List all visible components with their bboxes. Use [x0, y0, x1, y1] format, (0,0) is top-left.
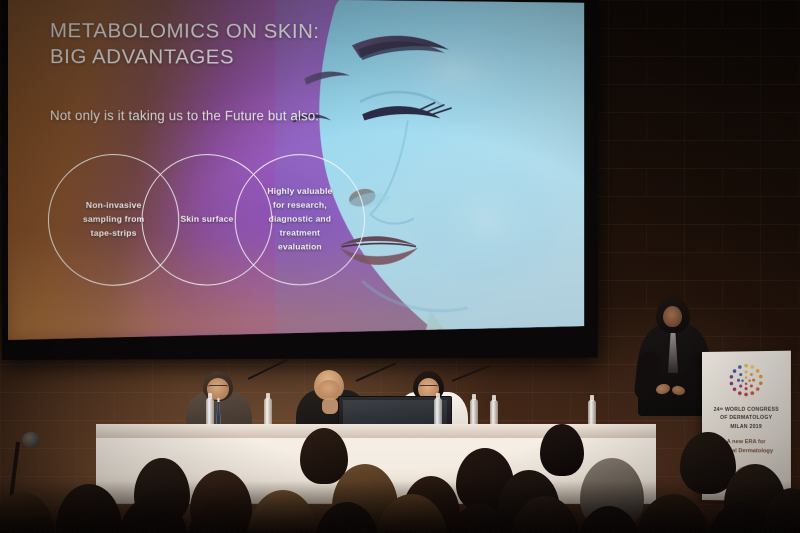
audience-silhouettes	[0, 418, 800, 533]
audience-head	[248, 490, 318, 533]
slide-subtitle: Not only is it taking us to the Future b…	[50, 108, 319, 123]
panelist-left-glasses-icon	[208, 385, 228, 390]
panelist-center-face	[318, 380, 340, 398]
venn-label-3: Highly valuable for research, diagnostic…	[235, 154, 365, 285]
venn-diagram: Non-invasive sampling from tape-strips S…	[32, 154, 428, 289]
audience-head	[56, 484, 122, 533]
projection-screen-frame: METABOLOMICS ON SKIN: BIG ADVANTAGES Not…	[2, 0, 598, 360]
audience-head	[540, 424, 584, 476]
slide-title: METABOLOMICS ON SKIN: BIG ADVANTAGES	[50, 18, 320, 71]
audience-head	[636, 494, 710, 533]
conference-photo-scene: METABOLOMICS ON SKIN: BIG ADVANTAGES Not…	[0, 0, 800, 533]
panelist-right-glasses-icon	[419, 385, 438, 390]
congress-spiral-dots-logo	[723, 359, 769, 404]
floor-microphone-head-icon	[22, 432, 40, 448]
audience-head	[0, 492, 54, 533]
panelist-center-neck	[322, 398, 338, 414]
projection-screen-surface: METABOLOMICS ON SKIN: BIG ADVANTAGES Not…	[8, 0, 584, 340]
speaker-face	[663, 306, 682, 327]
